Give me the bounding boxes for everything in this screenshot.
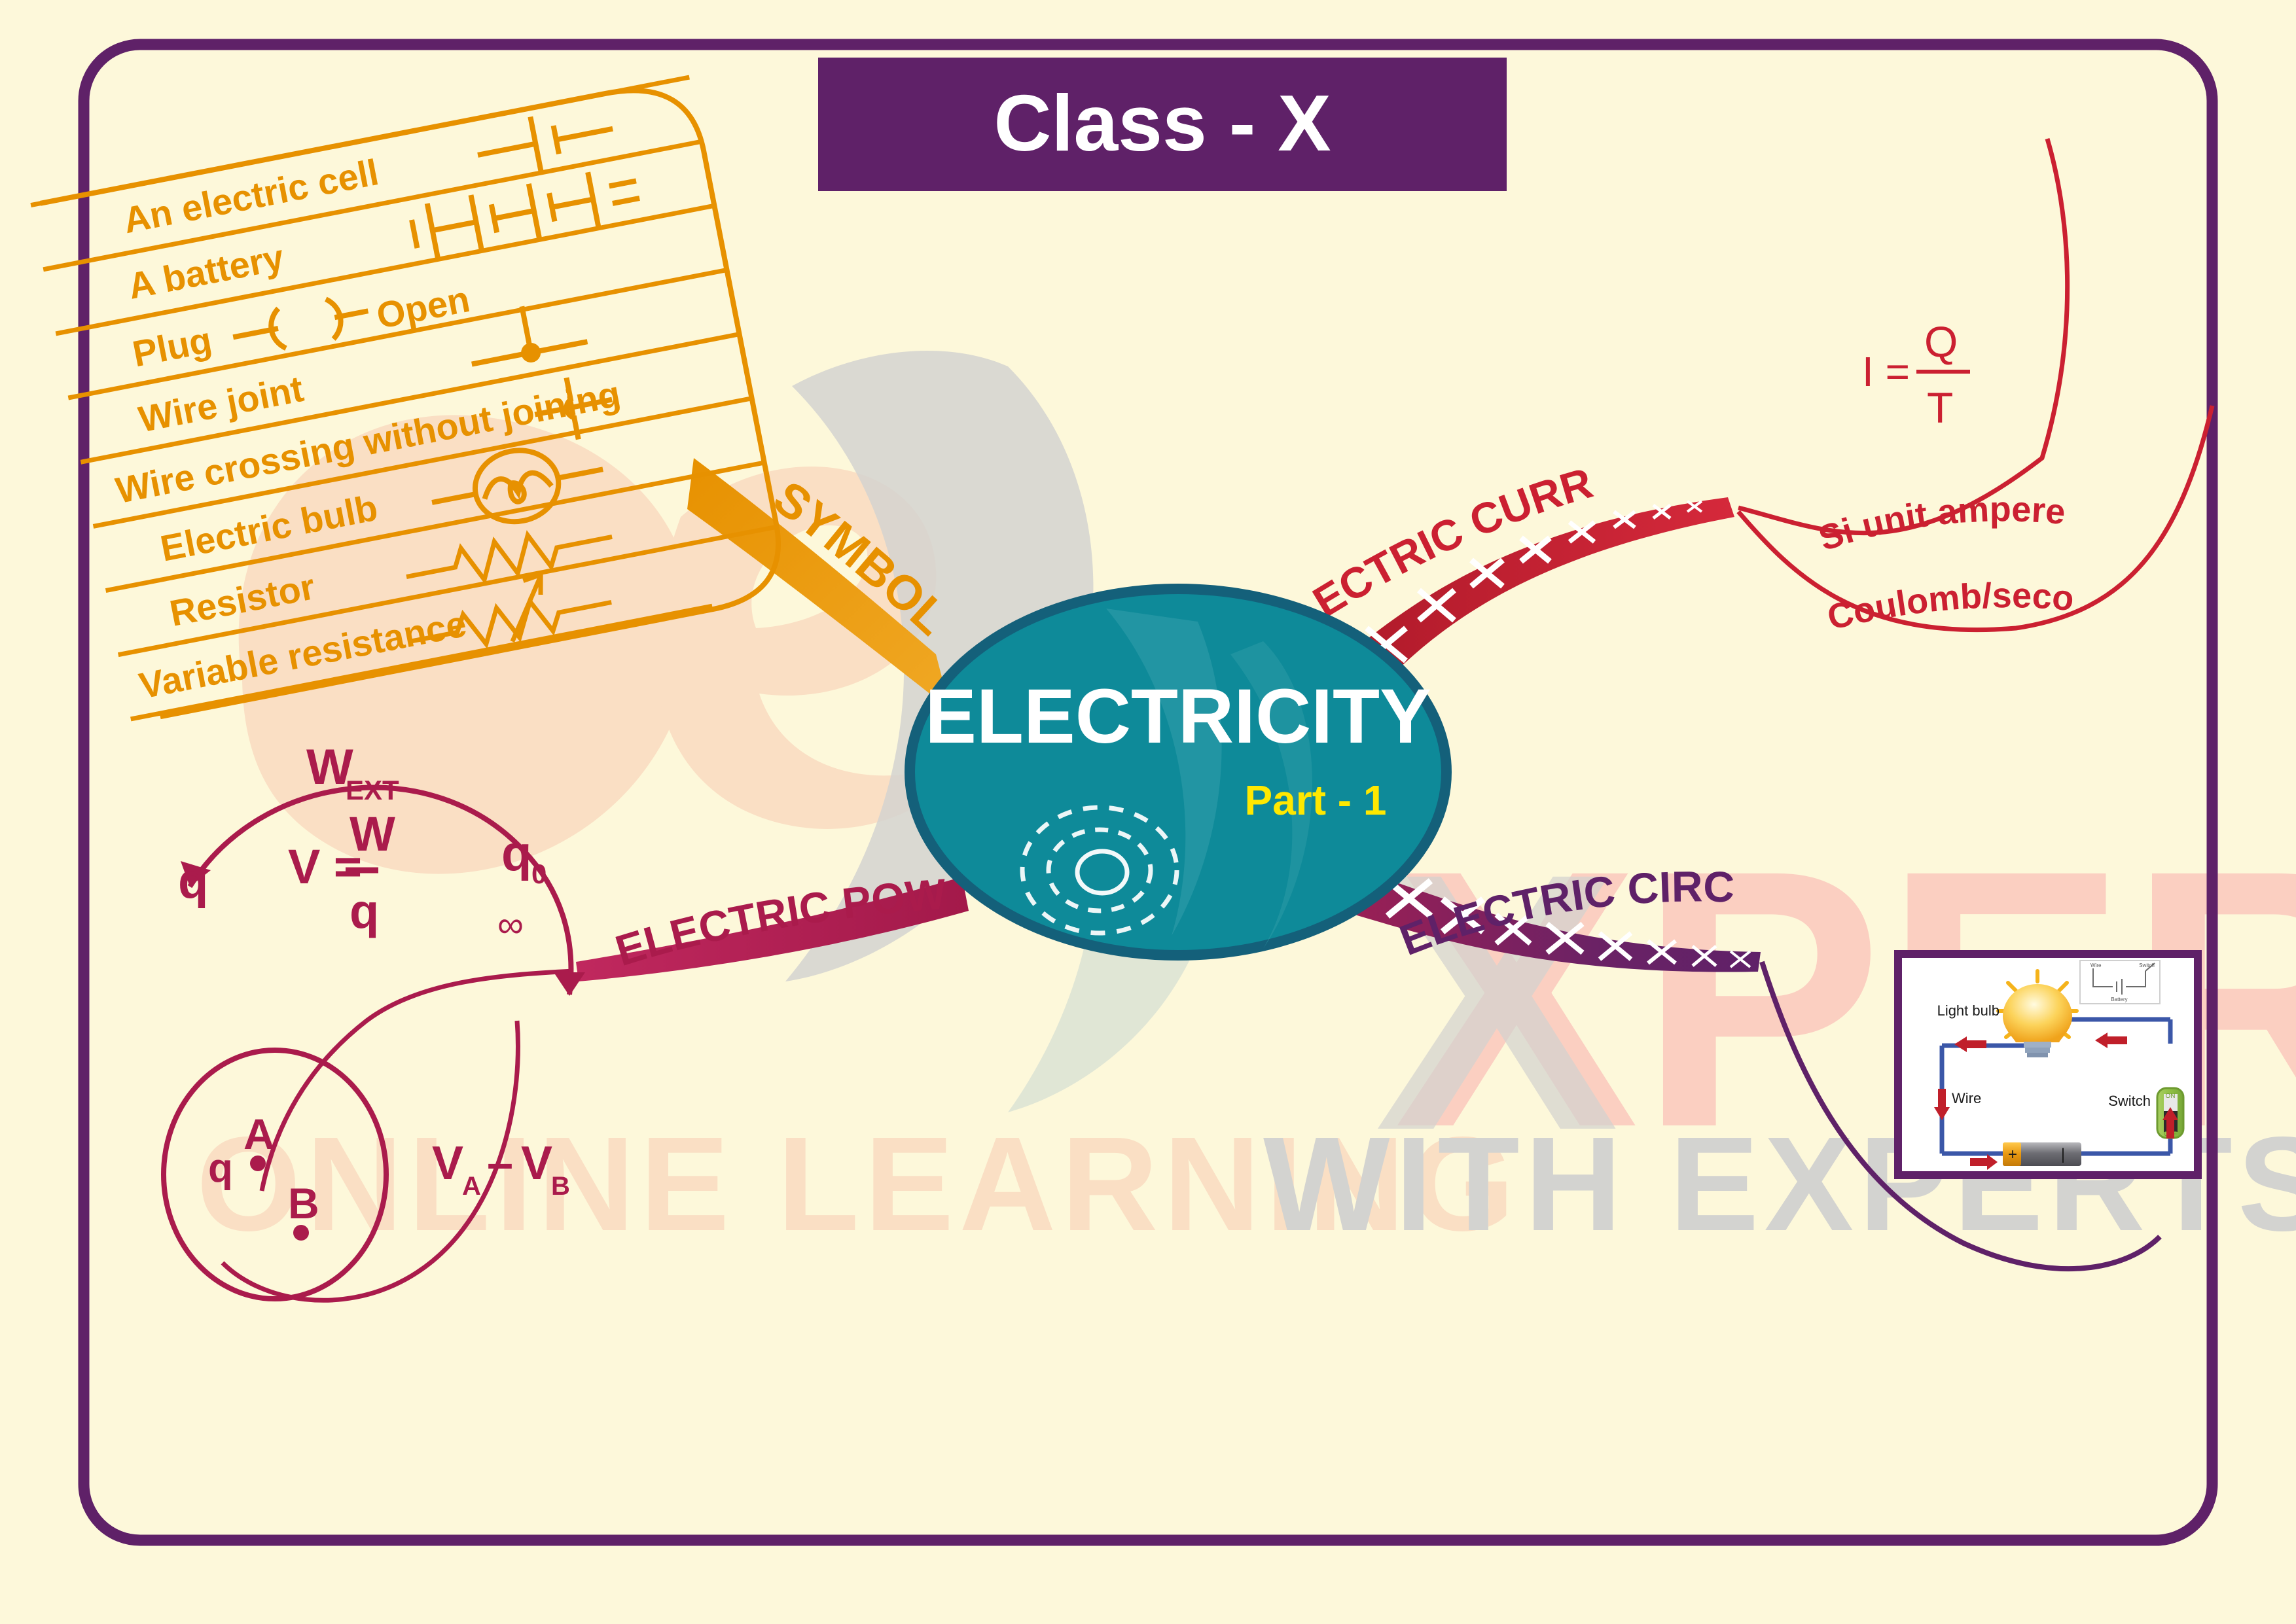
switch-label: Switch xyxy=(2108,1093,2151,1109)
battery-plus-label: + xyxy=(2008,1146,2017,1163)
current-formula-numerator: Q xyxy=(1924,317,1958,366)
point-a-label: A xyxy=(243,1110,275,1158)
work-label-sub: EXT xyxy=(346,775,399,805)
charge-right-sub: 0 xyxy=(531,858,547,889)
charge-right-label: q xyxy=(501,826,531,881)
charge-left-label: q xyxy=(178,853,208,909)
center-node[interactable]: ELECTRICITY Part - 1 xyxy=(910,589,1446,955)
point-b-dot xyxy=(293,1225,309,1241)
charge-q-label: q xyxy=(208,1146,233,1191)
center-subtitle: Part - 1 xyxy=(1245,777,1387,824)
voltage-formula-numerator: W xyxy=(350,807,395,861)
point-b-label: B xyxy=(288,1179,319,1227)
point-a-dot xyxy=(250,1156,266,1171)
mindmap-poster: XPERT X ONLINE LEARNING WITH EXPERTS Cla… xyxy=(0,0,2296,1624)
bulb-label: Light bulb xyxy=(1937,1002,2000,1019)
vd-sub-a: A xyxy=(462,1172,481,1201)
vd-v1: V xyxy=(432,1137,463,1190)
wire-label: Wire xyxy=(1952,1090,1981,1106)
inset-switch-label: Switch xyxy=(2139,962,2155,968)
vd-v2: V xyxy=(521,1137,552,1190)
switch-on-label: ON xyxy=(2166,1093,2176,1100)
infinity-label: ∞ xyxy=(497,904,524,945)
battery-minus-label: | xyxy=(2061,1146,2065,1163)
circuit-inset-schematic: Wire Switch Battery xyxy=(2080,961,2160,1004)
circuit-diagram[interactable]: ON OFF + | Light bulb Wire Switch xyxy=(1898,954,2198,1175)
current-formula-lhs: I = xyxy=(1862,348,1910,395)
inset-battery-label: Battery xyxy=(2111,997,2127,1002)
page-title: Class - X xyxy=(994,79,1331,168)
battery-icon-diagram: + | xyxy=(2003,1142,2081,1166)
current-formula-denominator: T xyxy=(1927,383,1953,432)
center-title: ELECTRICITY xyxy=(925,673,1431,760)
vd-sub-b: B xyxy=(551,1172,570,1201)
voltage-formula-denominator: q xyxy=(350,884,379,938)
inset-wire-label: Wire xyxy=(2090,962,2102,968)
